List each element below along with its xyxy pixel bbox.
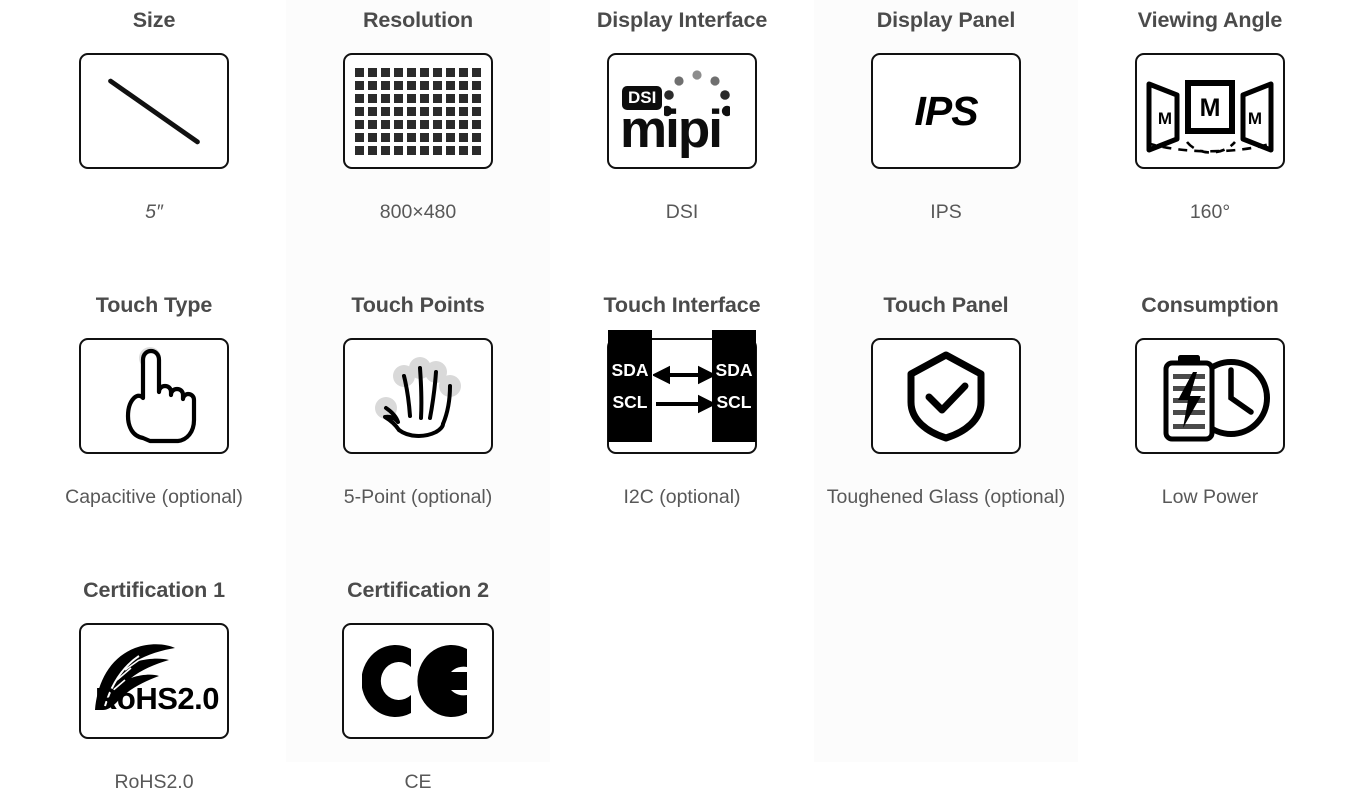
pixel-cell xyxy=(407,94,416,103)
pixel-cell xyxy=(381,133,390,142)
spec-item-size: Size 5″ xyxy=(22,0,286,237)
svg-text:M: M xyxy=(1200,94,1221,122)
pixel-cell xyxy=(407,68,416,77)
pixel-cell xyxy=(446,107,455,116)
battery-clock-icon xyxy=(1135,338,1285,454)
pixel-cell xyxy=(459,68,468,77)
spec-title: Resolution xyxy=(363,10,473,32)
pixel-cell xyxy=(420,68,429,77)
spec-item-touch-panel: Touch Panel Toughened Glass (optional) xyxy=(814,285,1078,522)
pixel-cell xyxy=(394,146,403,155)
pixel-cell xyxy=(459,94,468,103)
spec-title: Display Interface xyxy=(597,10,767,32)
pixel-cell xyxy=(368,94,377,103)
pixel-cell xyxy=(459,146,468,155)
pixel-cell xyxy=(368,81,377,90)
spec-item-touch-interface: Touch Interface SDA SCL xyxy=(550,285,814,522)
i2c-sda-label-right: SDA xyxy=(716,360,753,381)
pixel-cell xyxy=(407,107,416,116)
spec-caption: CE xyxy=(296,757,540,807)
pixel-cell xyxy=(381,146,390,155)
spec-caption: RoHS2.0 xyxy=(32,757,276,807)
pixel-cell xyxy=(394,120,403,129)
pixel-cell xyxy=(472,81,481,90)
spec-caption: 5-Point (optional) xyxy=(296,472,540,522)
spec-caption: Toughened Glass (optional) xyxy=(824,472,1068,522)
pointing-hand-icon xyxy=(79,338,229,454)
pixel-grid-icon xyxy=(343,53,493,169)
rohs-logo-icon: RoHS2.0 xyxy=(79,623,229,739)
spec-title: Consumption xyxy=(1141,295,1278,317)
i2c-arrow-lines xyxy=(653,330,715,442)
one-finger-touch-icon xyxy=(102,346,206,446)
pixel-cell xyxy=(407,120,416,129)
spec-item-certification-2: Certification 2 CE xyxy=(286,570,550,807)
spec-title: Touch Interface xyxy=(604,295,761,317)
i2c-diagram: SDA SCL xyxy=(609,338,755,454)
pixel-cell xyxy=(420,146,429,155)
spec-title: Touch Panel xyxy=(883,295,1008,317)
spec-sheet: Size 5″ Resolution 800×480 Display Inter… xyxy=(0,0,1356,762)
pixel-cell xyxy=(407,146,416,155)
rohs-wordmark: RoHS2.0 xyxy=(95,683,219,714)
spec-item-viewing-angle: Viewing Angle M M M xyxy=(1078,0,1342,237)
pixel-cell xyxy=(433,68,442,77)
spec-title: Touch Points xyxy=(351,295,484,317)
spec-item-touch-points: Touch Points xyxy=(286,285,550,522)
spec-caption: 800×480 xyxy=(296,187,540,237)
rohs-logo: RoHS2.0 xyxy=(87,638,221,724)
low-power-icon xyxy=(1147,348,1273,444)
pixel-cell xyxy=(472,68,481,77)
pixel-cell xyxy=(368,107,377,116)
shield-outline-icon xyxy=(905,350,987,442)
pixel-cell xyxy=(355,81,364,90)
pixel-cell xyxy=(459,107,468,116)
svg-text:M: M xyxy=(1248,109,1262,128)
mipi-dsi-logo-icon: DSI mipi xyxy=(607,53,757,169)
pixel-cell xyxy=(433,146,442,155)
screen-diagonal-icon xyxy=(79,53,229,169)
spec-caption: Capacitive (optional) xyxy=(32,472,276,522)
spec-item-consumption: Consumption xyxy=(1078,285,1342,522)
spec-caption: 160° xyxy=(1088,187,1332,237)
pixel-cell xyxy=(446,68,455,77)
pixel-cell xyxy=(407,133,416,142)
pixel-cell xyxy=(355,133,364,142)
pixel-cell xyxy=(368,146,377,155)
spec-item-resolution: Resolution 800×480 xyxy=(286,0,550,237)
pixel-cell xyxy=(420,81,429,90)
pixel-cell xyxy=(433,133,442,142)
spec-title: Certification 1 xyxy=(83,580,225,602)
pixel-cell xyxy=(433,120,442,129)
i2c-bus-icon: SDA SCL xyxy=(607,338,757,454)
ips-wordmark: IPS xyxy=(914,88,977,135)
pixel-cell xyxy=(355,94,364,103)
pixel-cell xyxy=(381,81,390,90)
pixel-cell xyxy=(420,133,429,142)
pixel-cell xyxy=(355,107,364,116)
pixel-cell xyxy=(446,133,455,142)
pixel-cell xyxy=(472,107,481,116)
spec-item-display-interface: Display Interface DSI mip xyxy=(550,0,814,237)
pixel-cell xyxy=(420,94,429,103)
spec-title: Display Panel xyxy=(877,10,1016,32)
pixel-cell xyxy=(446,94,455,103)
pixel-cell xyxy=(381,107,390,116)
pixel-cell xyxy=(394,81,403,90)
spec-caption: 5″ xyxy=(32,187,276,237)
pixel-cell xyxy=(420,120,429,129)
pixel-cell xyxy=(446,120,455,129)
pixel-cell xyxy=(459,133,468,142)
pixel-cell xyxy=(472,146,481,155)
ce-conformity-icon xyxy=(362,640,474,722)
spec-item-certification-1: Certification 1 RoHS2.0 xyxy=(22,570,286,807)
pixel-cell xyxy=(381,120,390,129)
pixel-cell xyxy=(433,107,442,116)
spec-grid: Size 5″ Resolution 800×480 Display Inter… xyxy=(0,0,1356,807)
pixel-cell xyxy=(407,81,416,90)
pixel-cell xyxy=(381,94,390,103)
pixel-cell xyxy=(433,94,442,103)
pixel-cell xyxy=(355,68,364,77)
viewing-angle-icon: M M M xyxy=(1135,53,1285,169)
diagonal-line-icon xyxy=(81,55,227,167)
spec-caption: Low Power xyxy=(1088,472,1332,522)
pixel-cell xyxy=(459,81,468,90)
pixel-cell xyxy=(433,81,442,90)
pixel-cell xyxy=(381,68,390,77)
spec-title: Touch Type xyxy=(96,295,212,317)
spec-title: Viewing Angle xyxy=(1138,10,1282,32)
i2c-scl-label-right: SCL xyxy=(717,392,752,413)
svg-text:M: M xyxy=(1158,109,1172,128)
pixel-cell xyxy=(459,120,468,129)
pixel-cell xyxy=(394,107,403,116)
pixel-cell xyxy=(368,120,377,129)
pixel-cell xyxy=(368,68,377,77)
pixel-cell xyxy=(394,133,403,142)
pixel-cell xyxy=(420,107,429,116)
i2c-scl-label-left: SCL xyxy=(613,392,648,413)
pixel-cell xyxy=(446,81,455,90)
spec-caption: IPS xyxy=(824,187,1068,237)
i2c-right-block: SDA SCL xyxy=(712,330,756,442)
spec-title: Size xyxy=(133,10,176,32)
mipi-wordmark: mipi xyxy=(620,103,721,156)
spec-item-display-panel: Display Panel IPS IPS xyxy=(814,0,1078,237)
pixel-cell xyxy=(368,133,377,142)
shield-check-icon xyxy=(871,338,1021,454)
pixel-cell xyxy=(355,146,364,155)
pixel-cell xyxy=(394,94,403,103)
pixel-cell xyxy=(472,94,481,103)
five-point-touch-icon xyxy=(362,346,474,446)
i2c-left-block: SDA SCL xyxy=(608,330,652,442)
pixel-cell xyxy=(446,146,455,155)
spec-item-touch-type: Touch Type Capacitive (optional) xyxy=(22,285,286,522)
pixel-cell xyxy=(355,120,364,129)
pixel-cell xyxy=(394,68,403,77)
spec-caption: DSI xyxy=(560,187,804,237)
five-finger-hand-icon xyxy=(343,338,493,454)
pixel-cell xyxy=(472,120,481,129)
pixel-cell xyxy=(472,133,481,142)
mipi-logo: DSI mipi xyxy=(618,72,746,150)
spec-title: Certification 2 xyxy=(347,580,489,602)
ips-logo-icon: IPS xyxy=(871,53,1021,169)
pixel-grid xyxy=(355,68,481,155)
spec-caption: I2C (optional) xyxy=(560,472,804,522)
i2c-sda-label-left: SDA xyxy=(612,360,649,381)
three-screens-icon: M M M xyxy=(1143,61,1277,161)
ce-mark-icon xyxy=(342,623,494,739)
